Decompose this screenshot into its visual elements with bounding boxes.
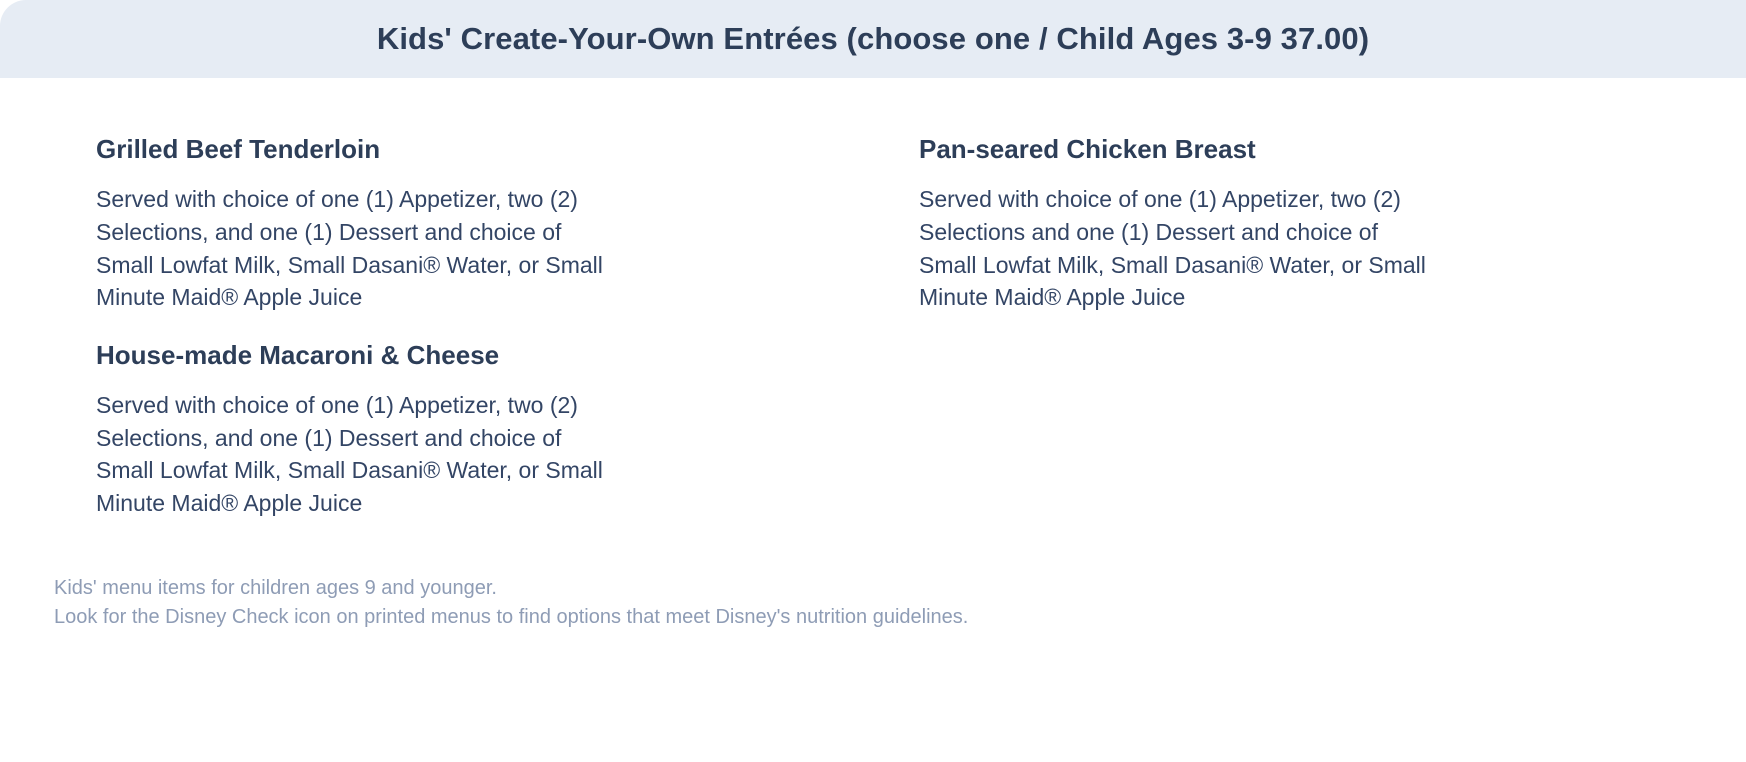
- footer-age-note: Kids' menu items for children ages 9 and…: [54, 574, 1696, 603]
- menu-footer-disclaimer: Kids' menu items for children ages 9 and…: [50, 546, 1696, 632]
- menu-items-grid: Grilled Beef Tenderloin Served with choi…: [50, 78, 1696, 546]
- menu-item-title: Pan-seared Chicken Breast: [919, 134, 1676, 165]
- menu-item-description: Served with choice of one (1) Appetizer,…: [96, 183, 676, 314]
- menu-item: Grilled Beef Tenderloin Served with choi…: [50, 134, 873, 314]
- footer-disney-check-note: Look for the Disney Check icon on printe…: [54, 603, 1696, 632]
- section-header-title: Kids' Create-Your-Own Entrées (choose on…: [377, 21, 1369, 57]
- menu-item: House-made Macaroni & Cheese Served with…: [50, 340, 873, 520]
- menu-item-description: Served with choice of one (1) Appetizer,…: [96, 389, 676, 520]
- menu-item: Pan-seared Chicken Breast Served with ch…: [873, 134, 1696, 314]
- menu-body: Grilled Beef Tenderloin Served with choi…: [0, 78, 1746, 632]
- menu-item-title: House-made Macaroni & Cheese: [96, 340, 853, 371]
- menu-item-title: Grilled Beef Tenderloin: [96, 134, 853, 165]
- menu-item-description: Served with choice of one (1) Appetizer,…: [919, 183, 1499, 314]
- kids-entrees-menu-section: Kids' Create-Your-Own Entrées (choose on…: [0, 0, 1746, 632]
- section-header: Kids' Create-Your-Own Entrées (choose on…: [0, 0, 1746, 78]
